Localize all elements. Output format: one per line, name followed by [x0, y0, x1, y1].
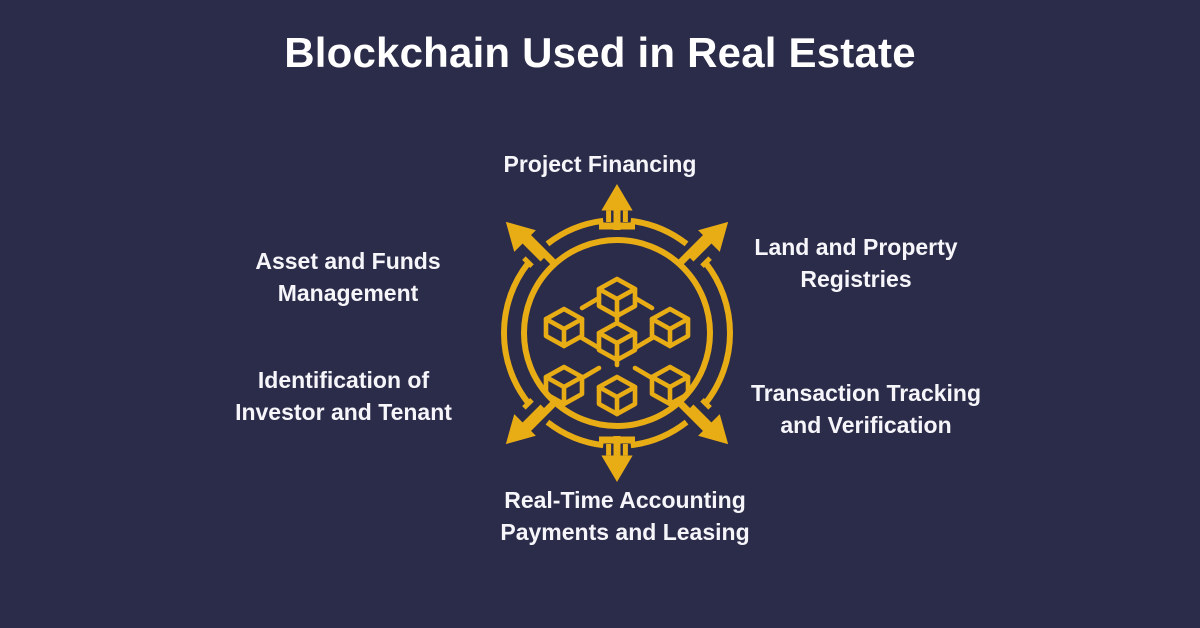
- infographic-canvas: Blockchain Used in Real Estate Project F…: [0, 0, 1200, 628]
- cube-center: [599, 323, 635, 360]
- arrow-down-right: [681, 404, 726, 442]
- central-blockchain-diagram: [468, 183, 766, 483]
- cube-lower-left: [546, 367, 582, 404]
- ring-gap-ticks: [524, 211, 710, 456]
- cube-lower-right: [652, 367, 688, 404]
- arrow-up-left: [508, 224, 553, 262]
- page-title: Blockchain Used in Real Estate: [0, 30, 1200, 76]
- cube-upper-right: [652, 309, 688, 346]
- arrow-down: [599, 436, 635, 479]
- cube-bottom: [599, 377, 635, 414]
- arrow-down-left: [508, 404, 553, 442]
- cube-top: [599, 279, 635, 316]
- node-label-identification-of-investor-and-tenant: Identification of Investor and Tenant: [191, 365, 496, 428]
- blockchain-cube-cluster-icon: [546, 279, 688, 414]
- node-label-asset-and-funds-management: Asset and Funds Management: [198, 246, 498, 309]
- node-label-project-financing: Project Financing: [400, 149, 800, 181]
- arrow-up: [599, 187, 635, 230]
- arrow-up-right: [681, 224, 726, 262]
- node-label-real-time-accounting-payments-and-leasing: Real-Time Accounting Payments and Leasin…: [425, 485, 825, 548]
- cube-upper-left: [546, 309, 582, 346]
